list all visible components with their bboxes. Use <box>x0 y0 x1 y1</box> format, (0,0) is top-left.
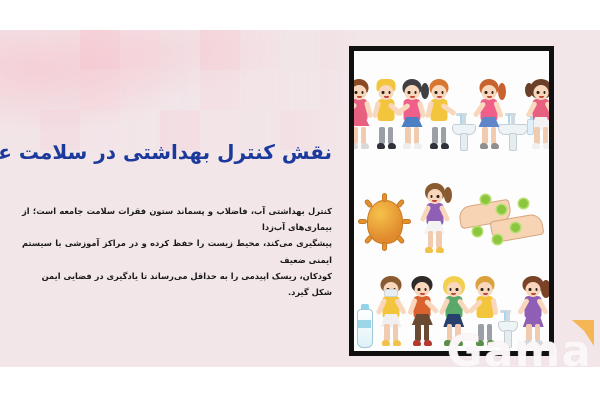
figure-girl-washing-hands-at-basin <box>452 77 498 151</box>
mosaic-tile <box>200 70 240 110</box>
mosaic-tile <box>240 30 280 70</box>
watermark: Gama <box>447 330 592 374</box>
figure-boy-with-backpack <box>409 274 435 348</box>
illustration-canvas <box>354 51 549 351</box>
page-title: نقش کنترل بهداشتی در سلامت عمومی <box>26 140 332 164</box>
slide-canvas: نقش کنترل بهداشتی در سلامت عمومی کنترل ب… <box>0 0 600 400</box>
body-paragraph-line-2: پیشگیری می‌کند، محیط زیست را حفظ کرده و … <box>22 235 332 267</box>
figure-handshake-with-germs <box>459 193 543 251</box>
face-mask-icon <box>384 289 398 297</box>
mosaic-tile <box>0 30 40 70</box>
mosaic-tile <box>280 30 320 70</box>
figure-girl-with-mask <box>378 274 404 348</box>
mosaic-tile <box>200 30 240 70</box>
mosaic-tile <box>0 70 40 110</box>
mosaic-tile <box>160 30 200 70</box>
illustration-row-2 <box>354 159 549 251</box>
figure-virus-particle <box>360 193 410 251</box>
figure-children-greeting-pair <box>354 77 399 151</box>
body-paragraph-line-3: کودکان، ریسک اپیدمی را به حداقل می‌رساند… <box>22 268 332 300</box>
watermark-text: Gama <box>447 326 592 377</box>
body-paragraph-line-1: کنترل بهداشتی آب، فاضلاب و پسماند ستون ف… <box>22 203 332 235</box>
mosaic-tile <box>80 70 120 110</box>
figure-sanitizer-tube <box>357 304 373 348</box>
illustration-panel <box>349 46 554 356</box>
illustration-row-1 <box>354 59 549 151</box>
mosaic-tile <box>40 30 80 70</box>
mosaic-tile <box>120 70 160 110</box>
figure-boy-and-girl-shaking-hands <box>399 77 452 151</box>
body-text-block: کنترل بهداشتی آب، فاضلاب و پسماند ستون ف… <box>22 203 332 300</box>
mosaic-tile <box>80 30 120 70</box>
figure-girl-standing <box>422 181 448 251</box>
pink-mosaic-decoration <box>0 30 360 150</box>
mosaic-tile <box>120 30 160 70</box>
mosaic-tile <box>240 70 280 110</box>
top-white-strip <box>0 0 600 30</box>
mosaic-tile <box>40 70 80 110</box>
mosaic-tile <box>280 70 320 110</box>
mosaic-tile <box>160 70 200 110</box>
